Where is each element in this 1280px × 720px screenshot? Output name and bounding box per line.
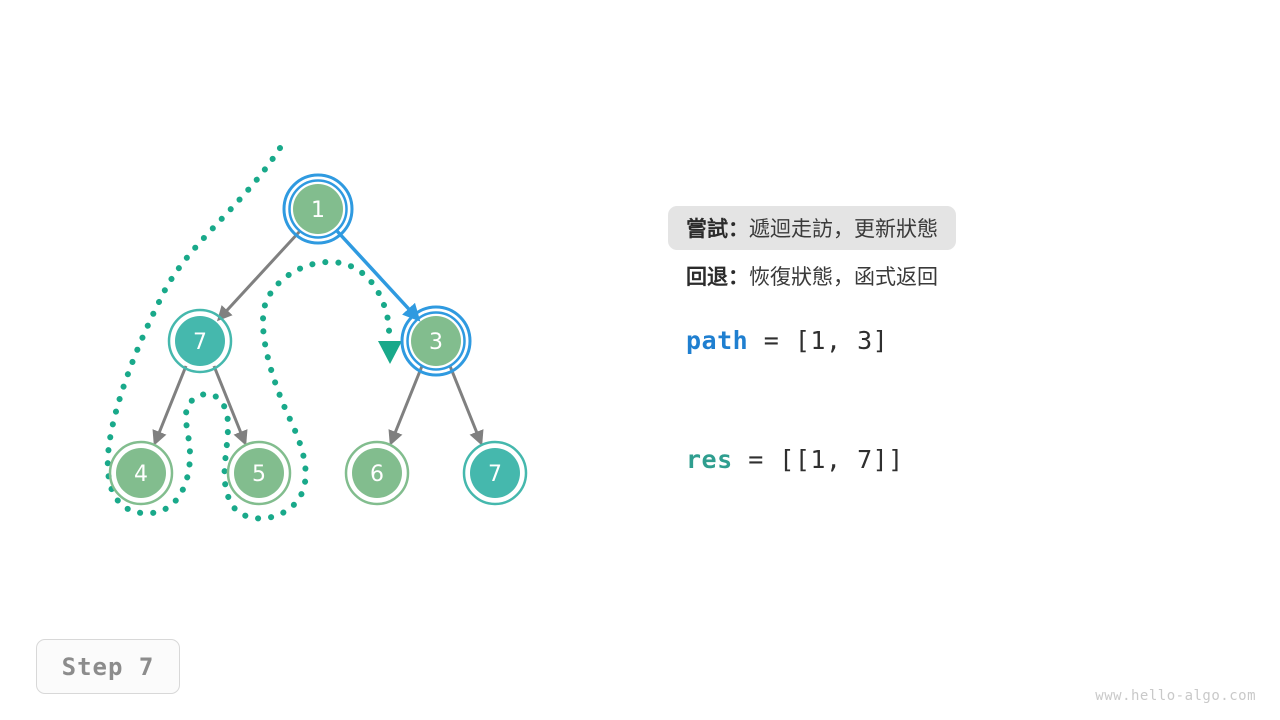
path-variable-value: = [1, 3] [748, 326, 888, 355]
traversal-arrow-icon [378, 341, 402, 364]
tree-diagram: 1 7 3 4 5 6 [0, 0, 640, 720]
note-back-text: 恢復狀態，函式返回 [749, 261, 938, 291]
tree-node-6[interactable]: 6 [346, 442, 408, 504]
node-4-label: 4 [134, 462, 148, 487]
note-back-label: 回退： [686, 261, 749, 291]
path-variable-line: path = [1, 3] [686, 326, 888, 355]
res-variable-name: res [686, 445, 733, 474]
note-try-text: 遞迴走訪，更新狀態 [749, 213, 938, 243]
annotation-panel: 嘗試：遞迴走訪，更新狀態 回退：恢復狀態，函式返回 path = [1, 3] … [686, 206, 1226, 298]
res-variable-line: res = [[1, 7]] [686, 445, 904, 474]
tree-node-5[interactable]: 5 [228, 442, 290, 504]
tree-nodes: 1 7 3 4 5 6 [110, 175, 526, 504]
tree-node-4[interactable]: 4 [110, 442, 172, 504]
watermark-text: www.hello-algo.com [1095, 688, 1256, 704]
node-7left-label: 7 [193, 330, 207, 355]
edge-7left-to-4 [155, 366, 186, 443]
node-3-label: 3 [429, 330, 443, 355]
note-back-row: 回退：恢復狀態，函式返回 [668, 254, 956, 298]
tree-node-3[interactable]: 3 [402, 307, 470, 375]
edge-1-to-3-active [337, 231, 418, 319]
tree-node-1[interactable]: 1 [284, 175, 352, 243]
watermark: www.hello-algo.com [1095, 688, 1256, 704]
edge-3-to-6 [391, 366, 422, 443]
node-6-label: 6 [370, 462, 384, 487]
path-variable-name: path [686, 326, 748, 355]
tree-node-7-left[interactable]: 7 [169, 310, 231, 372]
note-try-label: 嘗試： [686, 213, 749, 243]
tree-node-7-right[interactable]: 7 [464, 442, 526, 504]
node-5-label: 5 [252, 462, 266, 487]
res-variable-value: = [[1, 7]] [733, 445, 904, 474]
step-badge: Step 7 [36, 639, 180, 694]
note-try-row: 嘗試：遞迴走訪，更新狀態 [668, 206, 956, 250]
edge-3-to-7right [450, 366, 481, 443]
node-1-label: 1 [311, 198, 325, 223]
step-badge-label: Step 7 [62, 653, 155, 681]
node-7right-label: 7 [488, 462, 502, 487]
